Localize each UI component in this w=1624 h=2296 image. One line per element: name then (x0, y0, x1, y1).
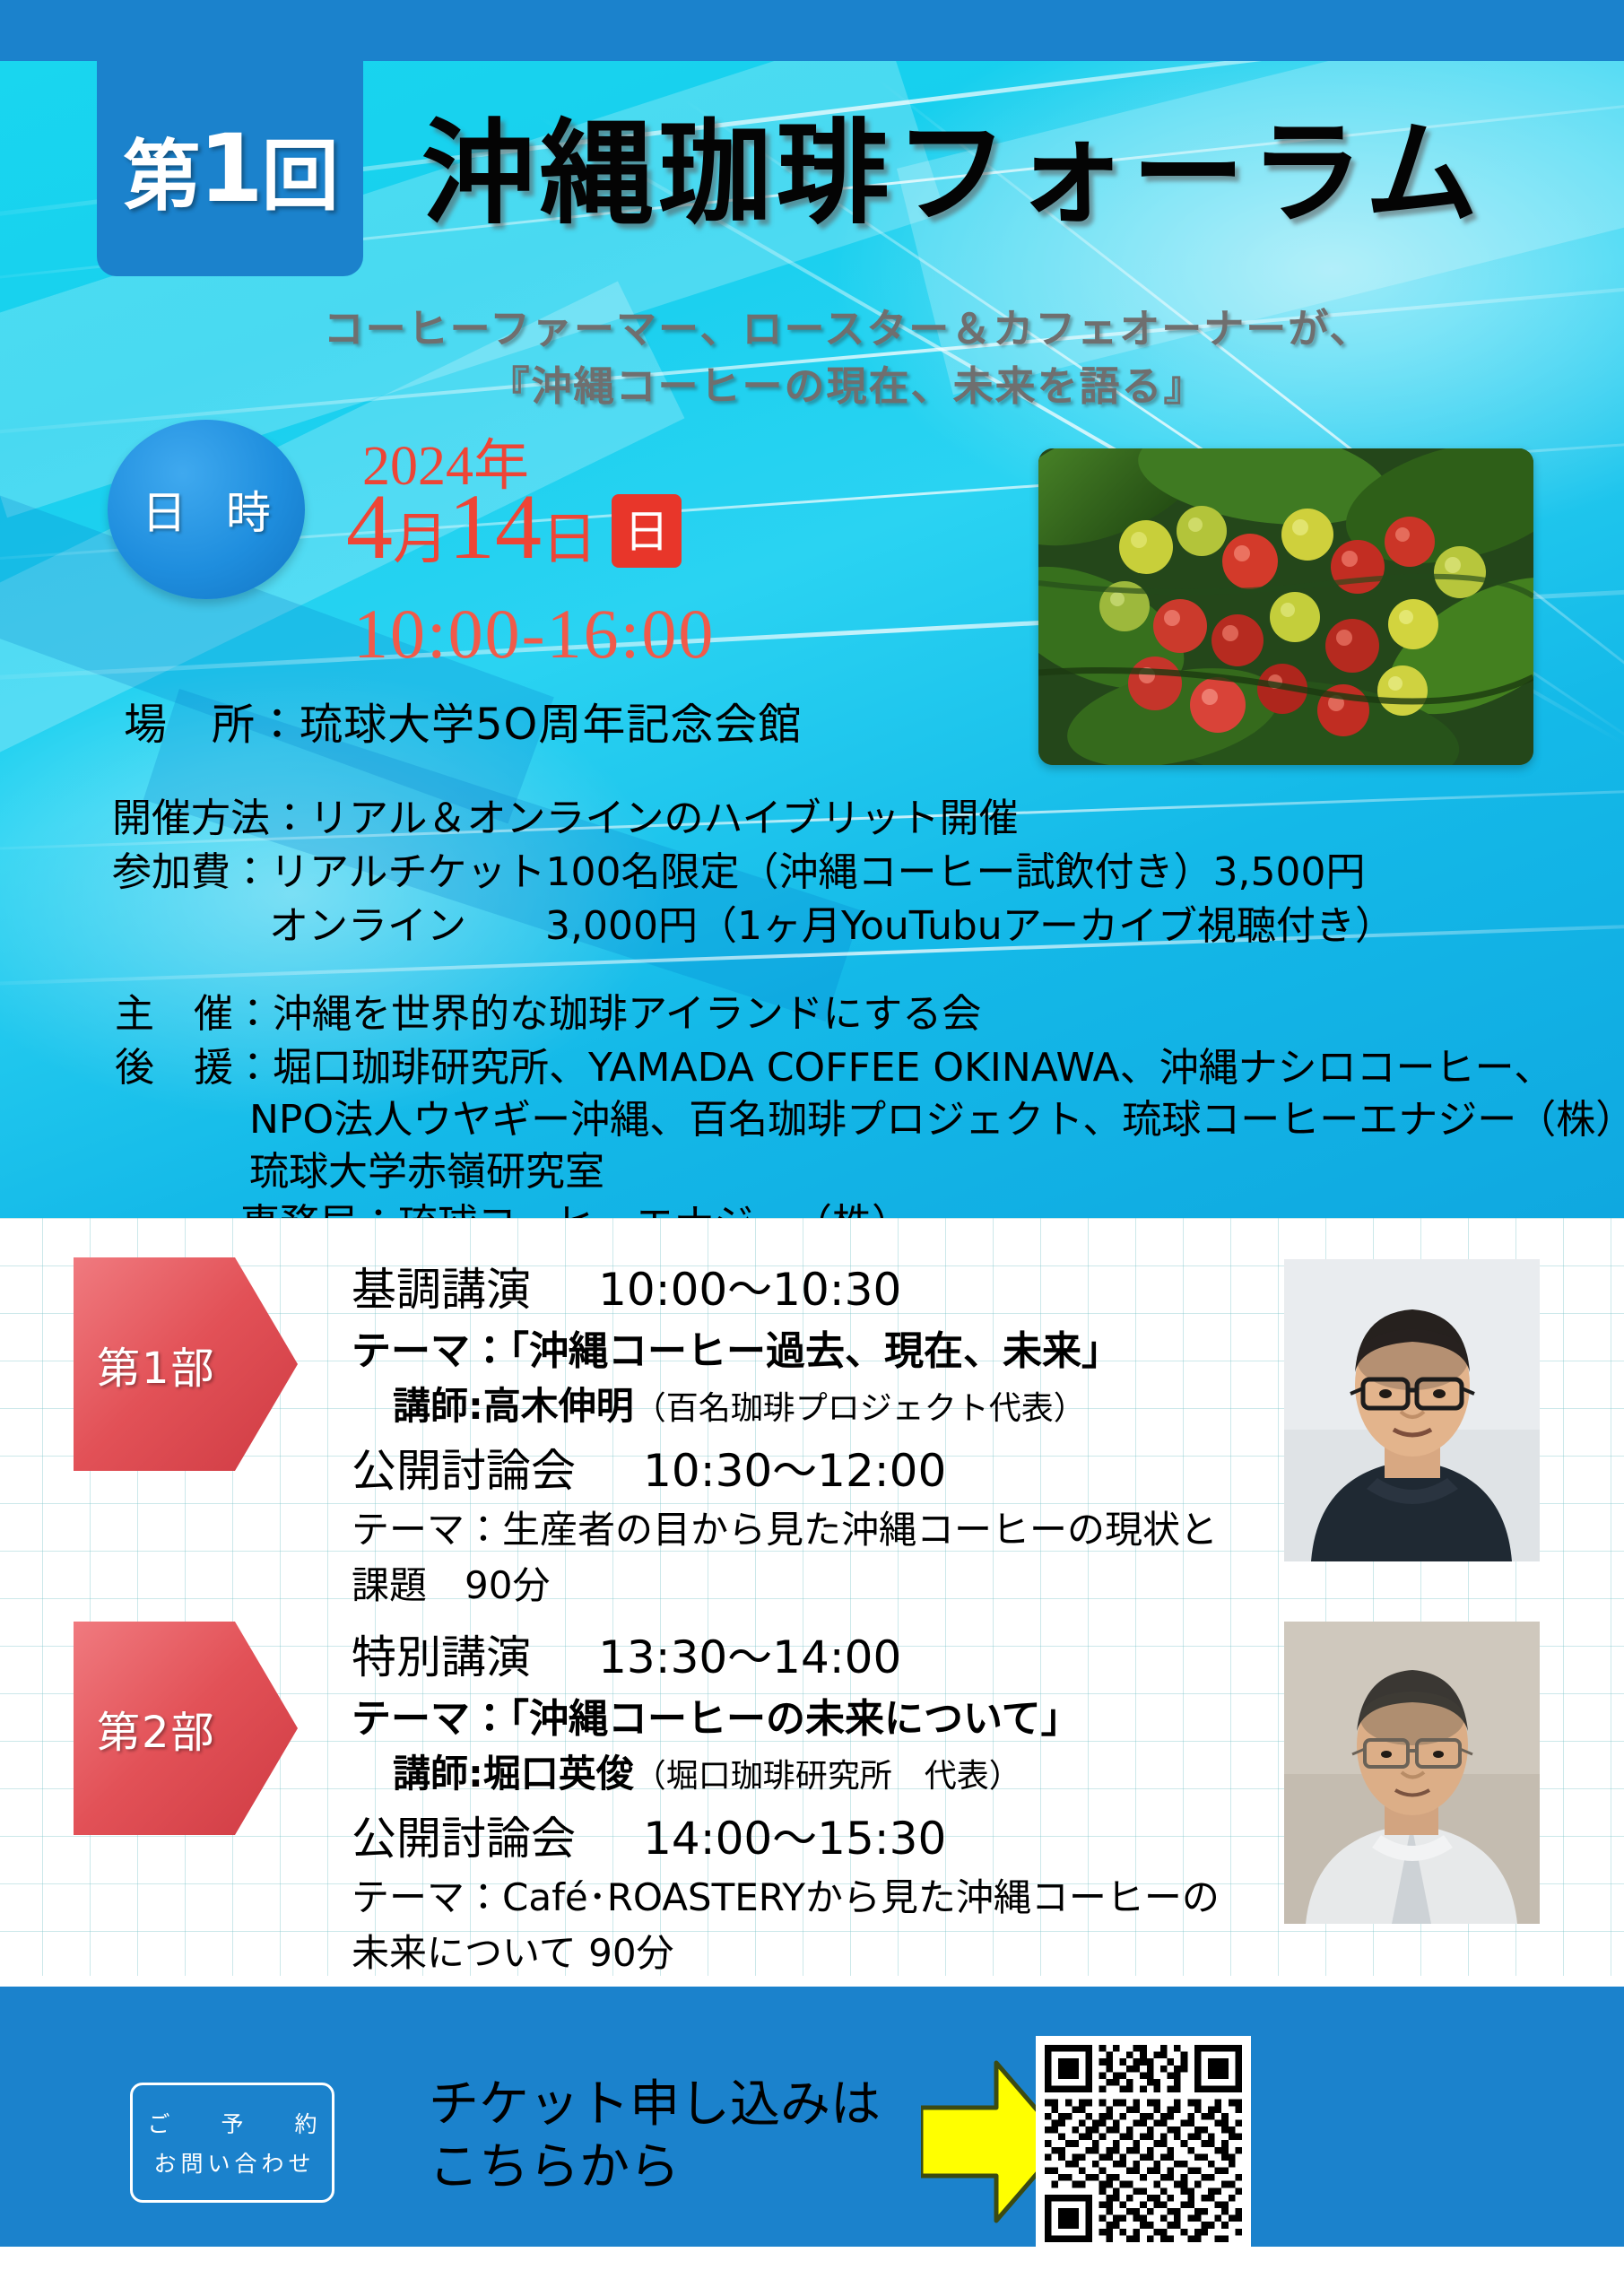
venue-line: 場 所：琉球大学5O周年記念会館 (124, 689, 802, 752)
part2-session1-title: 特別講演 (352, 1631, 531, 1683)
edition-number: 1 (198, 114, 261, 223)
coffee-cherries-photo (1038, 448, 1533, 765)
part1-session1-header: 基調講演 10:00〜10:30 (352, 1254, 901, 1318)
ticket-cta-line-1: チケット申し込みは (429, 2074, 881, 2136)
weekday-badge: 日 (612, 494, 682, 568)
part2-session2-theme-line-1: テーマ：Café･ROASTERYから見た沖縄コーヒーの (352, 1875, 1220, 1919)
part1-speaker-name: 講師:高木伸明 (393, 1384, 634, 1428)
ticket-cta-text: チケット申し込みは こちらから (429, 2074, 881, 2199)
edition-suffix: 回 (262, 113, 337, 225)
event-month-number: 4 (346, 475, 393, 578)
part2-session2-theme-line-2: 未来について 90分 (352, 1931, 674, 1975)
method-line: 開催方法：リアル＆オンラインのハイブリット開催 (112, 786, 1019, 843)
part2-session2-time: 14:00〜15:30 (643, 1813, 946, 1865)
datetime-label: 日 時 (129, 477, 283, 542)
part2-session1-speaker: 講師:堀口英俊（堀口珈琲研究所 代表） (393, 1744, 1021, 1798)
event-time-range: 10:00-16:00 (353, 594, 715, 674)
reservation-line-1: ご 予 約 (133, 2107, 331, 2139)
fee-line-2: オンライン 3,000円（1ヶ月YouTubuアーカイブ視聴付き） (269, 893, 1394, 951)
edition-prefix: 第 (123, 113, 198, 225)
part2-session2-header: 公開討論会 14:00〜15:30 (352, 1803, 946, 1867)
part2-session1-header: 特別講演 13:30〜14:00 (352, 1622, 901, 1686)
edition-badge: 第1回 (97, 61, 363, 276)
event-day-unit: 日 (542, 509, 597, 570)
part1-speaker-note: （百名珈琲プロジェクト代表） (634, 1390, 1086, 1427)
qr-code-icon[interactable] (1036, 2036, 1251, 2251)
page-title: 沖縄珈琲フォーラム (421, 83, 1483, 246)
part1-session1-theme: テーマ：「沖縄コーヒー過去、現在、未来」 (352, 1328, 1121, 1374)
speaker-portrait-takagi (1284, 1259, 1540, 1561)
top-blue-bar (0, 0, 1624, 61)
event-day-number: 14 (448, 475, 542, 578)
part1-session2-header: 公開討論会 10:30〜12:00 (352, 1435, 946, 1500)
support-line-1: 後 援：堀口珈琲研究所、YAMADA COFFEE OKINAWA、沖縄ナシロコ… (115, 1035, 1553, 1092)
part2-session2-title: 公開討論会 (352, 1813, 576, 1865)
support-line-3: 琉球大学赤嶺研究室 (249, 1139, 604, 1196)
event-date: 4月14日日 (346, 474, 682, 580)
part1-session2-theme-line-1: テーマ：生産者の目から見た沖縄コーヒーの現状と (352, 1508, 1218, 1552)
speaker-portrait-horiguchi (1284, 1622, 1540, 1924)
reservation-line-2: お問い合わせ (149, 2146, 315, 2179)
part2-badge-label: 第2部 (97, 1697, 216, 1760)
part1-session1-speaker: 講師:高木伸明（百名珈琲プロジェクト代表） (393, 1376, 1086, 1431)
ticket-cta-line-2: こちらから (429, 2136, 881, 2199)
fee-line-1: 参加費：リアルチケット100名限定（沖縄コーヒー試飲付き）3,500円 (112, 839, 1366, 897)
part1-session1-time: 10:00〜10:30 (598, 1264, 901, 1316)
support-line-2: NPO法人ウヤギー沖縄、百名珈琲プロジェクト、琉球コーヒーエナジー（株） (249, 1087, 1624, 1144)
part2-session1-theme: テーマ：「沖縄コーヒーの未来について」 (352, 1696, 1081, 1742)
part1-session2-time: 10:30〜12:00 (643, 1445, 946, 1497)
event-month-unit: 月 (393, 509, 448, 570)
subtitle-line-2: 『沖縄コーヒーの現在、未来を語る』 (108, 353, 1587, 412)
part2-session1-time: 13:30〜14:00 (598, 1631, 901, 1683)
part1-session1-title: 基調講演 (352, 1264, 531, 1316)
part1-session2-title: 公開討論会 (352, 1445, 576, 1497)
part2-speaker-note: （堀口珈琲研究所 代表） (634, 1758, 1021, 1795)
host-line: 主 催：沖縄を世界的な珈琲アイランドにする会 (115, 981, 981, 1039)
part1-session2-theme-line-2: 課題 90分 (352, 1563, 550, 1607)
part2-speaker-name: 講師:堀口英俊 (393, 1752, 634, 1796)
datetime-label-circle: 日 時 (108, 420, 305, 599)
reservation-box: ご 予 約 お問い合わせ (130, 2083, 334, 2203)
part1-badge-label: 第1部 (97, 1333, 216, 1396)
subtitle-line-1: コーヒーファーマー、ロースター＆カフェオーナーが、 (108, 296, 1587, 354)
event-poster: 第1回 沖縄珈琲フォーラム コーヒーファーマー、ロースター＆カフェオーナーが、 … (0, 0, 1624, 2296)
